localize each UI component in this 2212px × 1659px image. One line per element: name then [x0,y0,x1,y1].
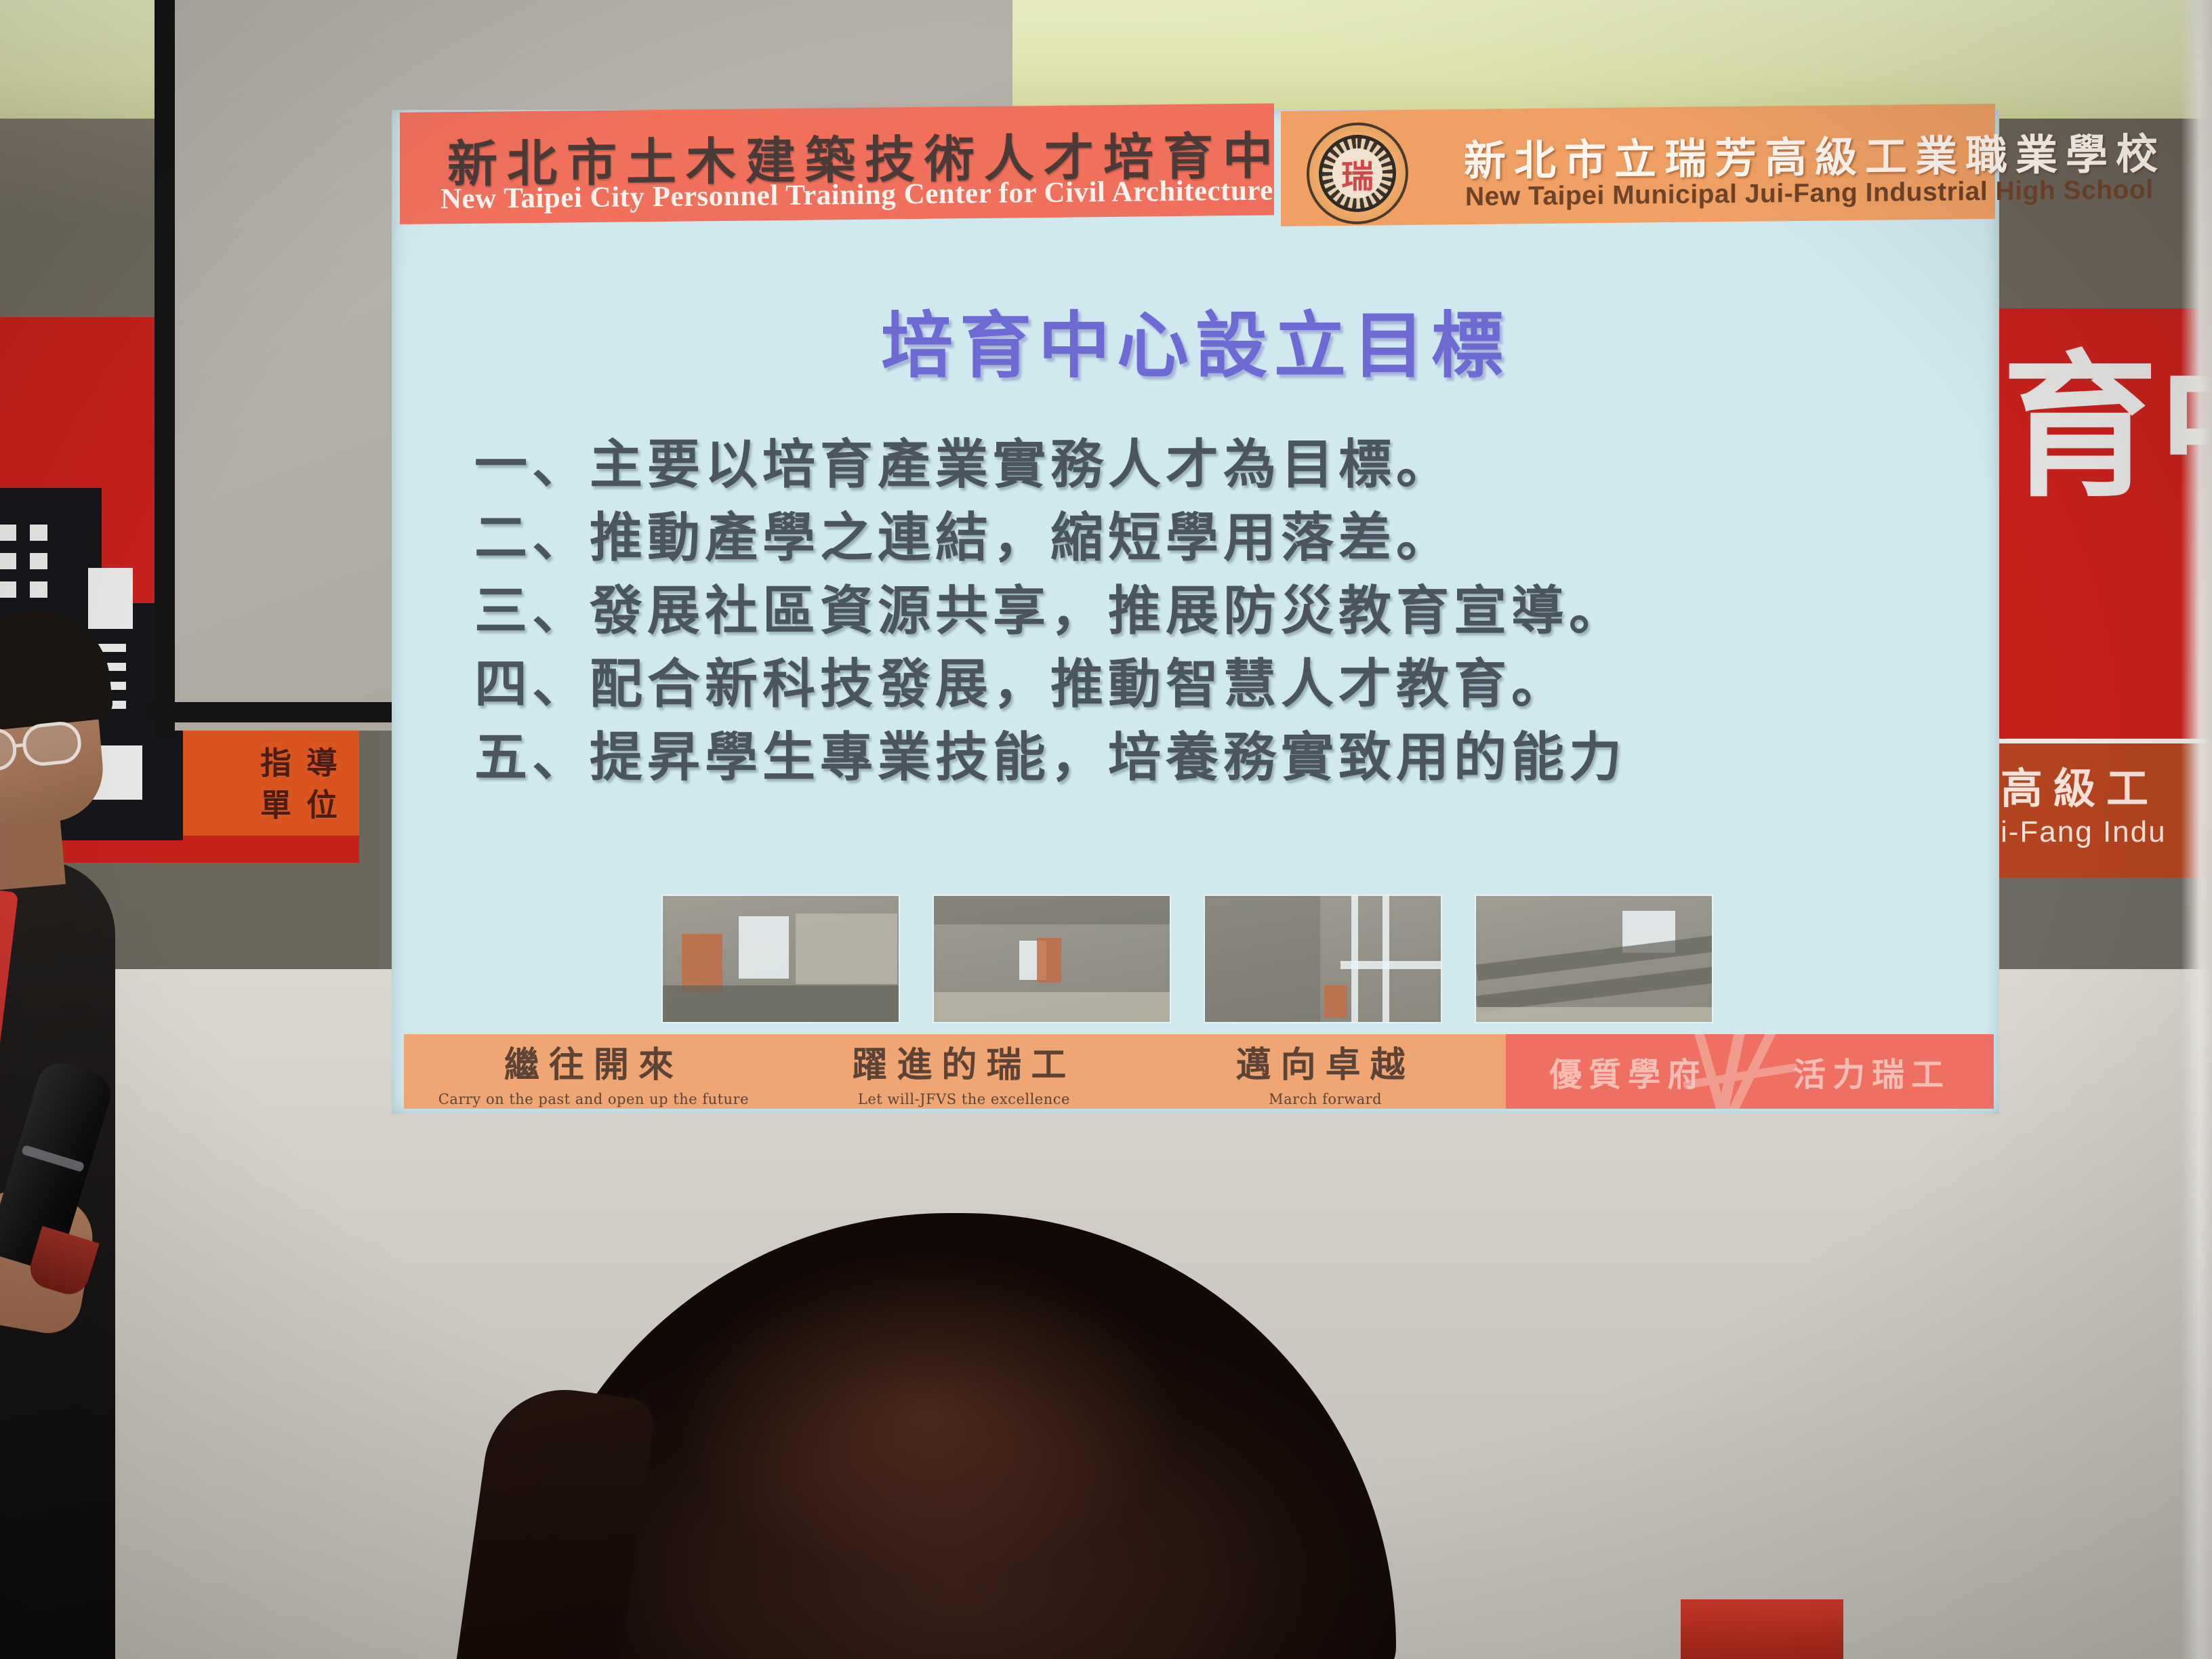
footer-motto-en: Carry on the past and open up the future [438,1091,749,1107]
backdrop-banner-right: 育中 高級工 i-Fang Indu [1995,308,2212,878]
backdrop-left-strip-line2: 單位 [260,781,352,825]
footer-motto-en: Let will-JFVS the excellence [858,1091,1070,1107]
slide-footer-segment: 躍進的瑞工 Let will-JFVS the excellence [783,1034,1145,1109]
slide-photo-thumbnail [1204,895,1442,1023]
building-window [0,553,16,569]
backdrop-right-strip-line1: 高級工 [2001,754,2159,815]
slide-header: 新北市土木建築技術人才培育中心 New Taipei City Personne… [400,110,1999,235]
slide-bullet-item: 五、提昇學生專業技能，培養務實致用的能力 [474,721,1972,794]
slide-header-right-band: 瑞 新北市立瑞芳高級工業職業學校 New Taipei Municipal Ju… [1281,104,1995,226]
slide-bullet-list: 一、主要以培育產業實務人才為目標。 二、推動產學之連結，縮短學用落差。 三、發展… [474,428,1972,794]
wall-edge-highlight [2181,0,2212,1659]
slide-photo-strip [661,895,1759,1023]
presentation-photo-scene: 新 指導 單位 育中 高級工 i-Fang Indu [0,0,2212,1659]
projected-slide: 新北市土木建築技術人才培育中心 New Taipei City Personne… [392,110,1999,1114]
slide-bullet-item: 一、主要以培育產業實務人才為目標。 [474,428,1972,501]
footer-motto-cn: 繼往開來 [504,1036,683,1087]
slide-photo-thumbnail [933,895,1171,1023]
building-window [30,553,47,569]
slide-bullet-item: 三、發展社區資源共享，推展防災教育宣導。 [474,575,1972,648]
building-window [30,581,47,598]
building-window [0,525,16,541]
slide-photo-thumbnail [661,895,900,1023]
presenter-hair [0,603,114,732]
slide-photo-thumbnail [1475,895,1713,1023]
footer-motto-cn: 邁向卓越 [1236,1036,1415,1087]
footer-motto-cn: 活力瑞工 [1793,1048,1950,1095]
backdrop-right-strip: 高級工 i-Fang Indu [1995,743,2212,878]
footer-motto-cn: 躍進的瑞工 [852,1036,1076,1087]
slide-footer-segment: 邁向卓越 March forward [1145,1034,1506,1109]
slide-header-left-band: 新北市土木建築技術人才培育中心 New Taipei City Personne… [400,103,1274,224]
building-window [0,581,16,598]
slide-title: 培育中心設立目標 [392,287,1999,392]
slide-bullet-item: 二、推動產學之連結，縮短學用落差。 [474,501,1972,575]
backdrop-left-strip-line1: 指導 [260,739,352,783]
presenter-person [0,596,244,1659]
school-emblem-icon: 瑞 [1307,122,1408,225]
footer-motto-en: March forward [1269,1091,1382,1107]
building-window [30,525,47,541]
backdrop-right-strip-line2: i-Fang Indu [2001,815,2167,849]
slide-footer-segment: 繼往開來 Carry on the past and open up the f… [404,1034,783,1109]
slide-bullet-item: 四、配合新科技發展，推動智慧人才教育。 [474,648,1972,721]
red-object-foreground [1681,1599,1843,1659]
school-watermark-icon [1676,1034,1805,1109]
slide-footer-ribbon: 繼往開來 Carry on the past and open up the f… [404,1034,1994,1109]
backdrop-right-divider [1995,739,2212,743]
slide-footer-segment-red: 優質學府 活力瑞工 [1506,1034,1994,1109]
